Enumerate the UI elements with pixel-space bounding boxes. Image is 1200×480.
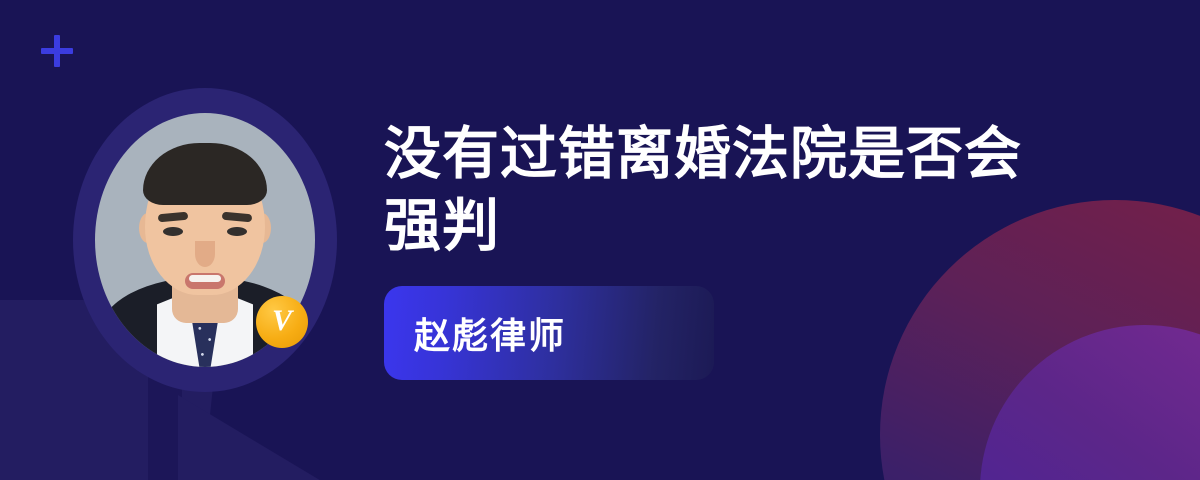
avatar[interactable]: V xyxy=(73,88,337,392)
lawyer-name-button[interactable]: 赵彪律师 xyxy=(384,286,714,380)
promo-banner: V 没有过错离婚法院是否会强判 赵彪律师 xyxy=(0,0,1200,480)
content-block: 没有过错离婚法院是否会强判 赵彪律师 xyxy=(384,118,1084,380)
plus-icon xyxy=(41,35,73,67)
verified-badge-glyph: V xyxy=(272,306,292,336)
verified-badge-icon: V xyxy=(256,296,308,348)
page-title: 没有过错离婚法院是否会强判 xyxy=(384,118,1074,262)
